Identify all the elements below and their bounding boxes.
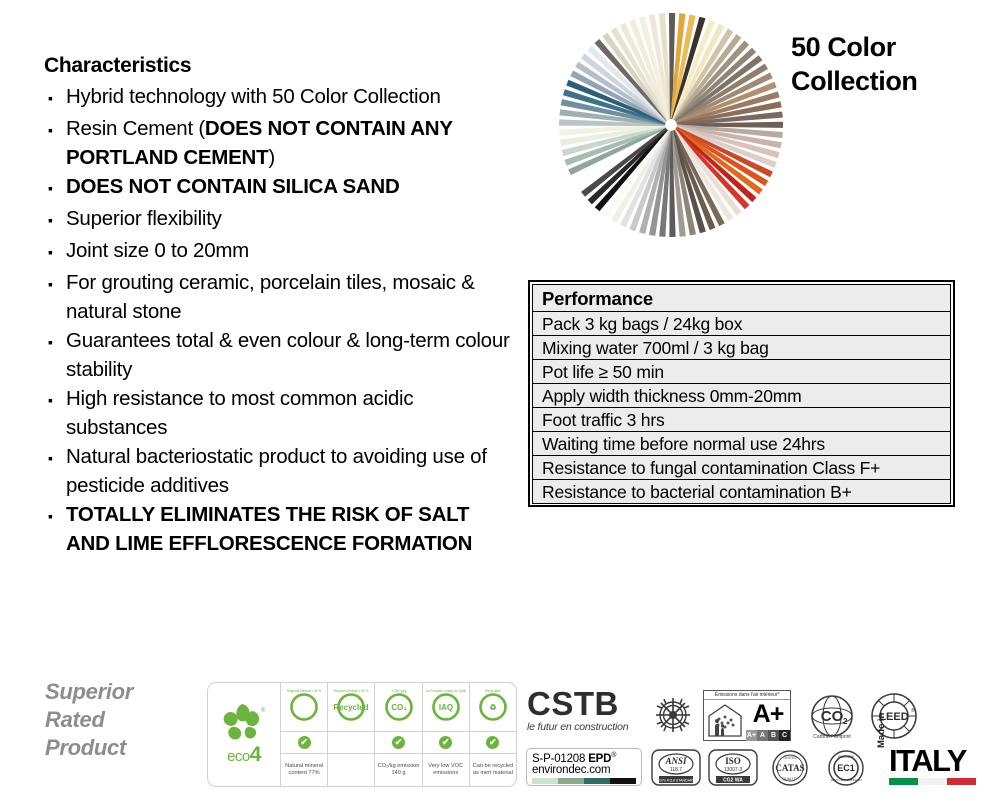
characteristic-text: Hybrid technology with 50 Color Collecti… bbox=[66, 83, 441, 112]
characteristic-item: ▪For grouting ceramic, porcelain tiles, … bbox=[44, 269, 514, 326]
epd-registered: ® bbox=[611, 752, 616, 759]
svg-text:Low Emission Indoor Air Qualit: Low Emission Indoor Air Quality bbox=[426, 689, 466, 693]
ec1-emicode-badge: EC1 EMICODE VERY LOW EMISSION bbox=[822, 748, 870, 788]
characteristic-text: Natural bacteriostatic product to avoidi… bbox=[66, 443, 514, 500]
superior-line-2: Rated bbox=[45, 706, 133, 734]
ansi-standard: 118.7 bbox=[670, 767, 682, 773]
voc-scale-step: A bbox=[757, 730, 768, 741]
performance-table-header: Performance bbox=[532, 284, 951, 312]
epd-bar-segment bbox=[610, 778, 636, 784]
voc-scale-step: C bbox=[779, 730, 790, 741]
voc-house-icon bbox=[704, 700, 746, 741]
eco4-certification-panel: ® eco4 Regional Mineral ≥ 80 %✔Natural m… bbox=[207, 682, 517, 787]
svg-text:Recyclable: Recyclable bbox=[485, 689, 501, 693]
epd-bar-segment bbox=[584, 778, 610, 784]
leed-registered: ® bbox=[911, 707, 915, 714]
eco4-column: IAQLow Emission Indoor Air Quality✔Very … bbox=[423, 683, 470, 786]
eco4-badge-icon: CO₂≤ 250 g/kg bbox=[375, 683, 421, 732]
cstb-tagline: le futur en construction bbox=[527, 721, 628, 733]
epd-gradient-bar bbox=[532, 778, 636, 784]
superior-line-1: Superior bbox=[45, 678, 133, 706]
check-icon: ✔ bbox=[392, 736, 405, 749]
performance-row: Resistance to fungal contamination Class… bbox=[532, 455, 951, 480]
characteristics-list: ▪Hybrid technology with 50 Color Collect… bbox=[44, 83, 514, 558]
characteristic-item: ▪Resin Cement (DOES NOT CONTAIN ANY PORT… bbox=[44, 115, 514, 172]
leed-icon: LEED ® bbox=[866, 688, 922, 744]
co2-arc-label: Carbon Footprint bbox=[813, 734, 851, 740]
bullet-square-icon: ▪ bbox=[44, 237, 66, 268]
check-icon: ✔ bbox=[486, 736, 499, 749]
eco4-badge-icon: ♻Recyclable bbox=[470, 683, 516, 732]
characteristic-item: ▪TOTALLY ELIMINATES THE RISK OF SALT AND… bbox=[44, 501, 514, 558]
eco4-caption: CO₂/kg emission 140 g bbox=[375, 754, 421, 786]
fan-title: 50 Color Collection bbox=[791, 30, 991, 98]
ansi-band-text: ANSI'S A118 STANDARDS bbox=[654, 779, 698, 783]
eco4-caption bbox=[328, 754, 374, 786]
epd-bar-segment bbox=[558, 778, 584, 784]
eco4-column: CO₂≤ 250 g/kg✔CO₂/kg emission 140 g bbox=[375, 683, 422, 786]
bullet-square-icon: ▪ bbox=[44, 115, 66, 146]
characteristic-item: ▪DOES NOT CONTAIN SILICA SAND bbox=[44, 173, 514, 204]
flag-stripe bbox=[889, 778, 918, 785]
characteristics-section: Characteristics ▪Hybrid technology with … bbox=[44, 54, 514, 559]
epd-environdec-badge: S-P-01208 EPD® environdec.com bbox=[526, 748, 642, 786]
eco4-badge-icon: Regional Mineral ≥ 80 % bbox=[281, 683, 327, 732]
svg-text:Regional Mineral ≥ 80 %: Regional Mineral ≥ 80 % bbox=[287, 689, 322, 693]
eco4-check-cell: ✔ bbox=[281, 732, 327, 754]
eco4-check-cell: ✔ bbox=[470, 732, 516, 754]
eco4-check-cell: ✔ bbox=[375, 732, 421, 754]
superior-line-3: Product bbox=[45, 734, 133, 762]
svg-text:≤ 250 g/kg: ≤ 250 g/kg bbox=[391, 689, 406, 693]
eco4-logo: ® eco4 bbox=[208, 683, 281, 786]
voc-grade: A+ bbox=[746, 700, 790, 730]
eco4-caption: Very low VOC emissions bbox=[423, 754, 469, 786]
characteristic-item: ▪Natural bacteriostatic product to avoid… bbox=[44, 443, 514, 500]
characteristic-item: ▪Guarantees total & even colour & long-t… bbox=[44, 327, 514, 384]
iso-band-text: CG2 WA bbox=[723, 778, 743, 784]
italy-wordmark: ITALY bbox=[889, 744, 966, 777]
bullet-square-icon: ▪ bbox=[44, 501, 66, 532]
characteristic-item: ▪High resistance to most common acidic s… bbox=[44, 385, 514, 442]
performance-row: Pack 3 kg bags / 24kg box bbox=[532, 311, 951, 336]
eco4-caption: Can be recycled as inert material bbox=[470, 754, 516, 786]
eco4-column: Regional Mineral ≥ 80 %✔Natural mineral … bbox=[281, 683, 328, 786]
cstb-logo: CSTB le futur en construction bbox=[527, 687, 628, 733]
eco4-wordmark: eco4 bbox=[227, 743, 261, 767]
svg-text:♻: ♻ bbox=[489, 703, 496, 712]
bullet-square-icon: ▪ bbox=[44, 327, 66, 358]
characteristic-item: ▪Joint size 0 to 20mm bbox=[44, 237, 514, 268]
made-in-italy-logo: Made in ITALY bbox=[876, 744, 976, 788]
characteristic-text: DOES NOT CONTAIN SILICA SAND bbox=[66, 173, 400, 202]
bullet-square-icon: ▪ bbox=[44, 385, 66, 416]
bullet-square-icon: ▪ bbox=[44, 269, 66, 300]
iso-standard: 13007-3 bbox=[724, 767, 743, 773]
characteristic-text: Joint size 0 to 20mm bbox=[66, 237, 249, 266]
eco4-columns: Regional Mineral ≥ 80 %✔Natural mineral … bbox=[281, 683, 516, 786]
bullet-square-icon: ▪ bbox=[44, 173, 66, 204]
svg-text:IAQ: IAQ bbox=[439, 703, 453, 712]
eco4-caption: Natural mineral content 77% bbox=[281, 754, 327, 786]
voc-scale-step: B bbox=[768, 730, 779, 741]
performance-table-body: Pack 3 kg bags / 24kg boxMixing water 70… bbox=[532, 311, 951, 504]
svg-text:Recycled Mineral ≥ 30 %: Recycled Mineral ≥ 30 % bbox=[334, 689, 369, 693]
ansi-badge: ANSI 118.7 ANSI'S A118 STANDARDS bbox=[651, 749, 701, 786]
check-icon: ✔ bbox=[298, 736, 311, 749]
iso-text: ISO bbox=[725, 756, 741, 766]
catas-arc-bottom: QUALITY bbox=[782, 777, 798, 781]
epd-website: environdec.com bbox=[532, 764, 636, 776]
performance-row: Apply width thickness 0mm-20mm bbox=[532, 383, 951, 408]
flag-stripe bbox=[918, 778, 947, 785]
italian-flag-icon bbox=[889, 778, 976, 785]
svg-text:Recycled: Recycled bbox=[334, 703, 369, 712]
ec1-text: EC1 bbox=[837, 763, 855, 773]
epd-bar-segment bbox=[532, 778, 558, 784]
made-in-label: Made in bbox=[876, 713, 887, 748]
bullet-square-icon: ▪ bbox=[44, 83, 66, 114]
eco4-check-cell: ✔ bbox=[423, 732, 469, 754]
co2-text: CO bbox=[821, 708, 844, 725]
eco4-badge-icon: IAQLow Emission Indoor Air Quality bbox=[423, 683, 469, 732]
characteristics-title: Characteristics bbox=[44, 54, 514, 78]
characteristic-item: ▪Hybrid technology with 50 Color Collect… bbox=[44, 83, 514, 114]
catas-badge: CATAS TESTED QUALITY bbox=[766, 748, 814, 788]
catas-arc-top: TESTED bbox=[783, 756, 798, 760]
eco4-column: RecycledRecycled Mineral ≥ 30 % bbox=[328, 683, 375, 786]
voc-grade-scale: A+ABC bbox=[746, 730, 790, 741]
eco4-column: ♻Recyclable✔Can be recycled as inert mat… bbox=[470, 683, 516, 786]
ansi-text: ANSI bbox=[664, 756, 687, 766]
characteristic-text: Superior flexibility bbox=[66, 205, 222, 234]
bullet-square-icon: ▪ bbox=[44, 205, 66, 236]
color-fan-svg bbox=[548, 8, 788, 240]
eco4-check-cell bbox=[328, 732, 374, 754]
characteristic-text: High resistance to most common acidic su… bbox=[66, 385, 514, 442]
check-icon: ✔ bbox=[439, 736, 452, 749]
characteristic-text: TOTALLY ELIMINATES THE RISK OF SALT AND … bbox=[66, 501, 514, 558]
iso-badge: ISO 13007-3 CG2 WA bbox=[708, 749, 758, 786]
eco4-leaf-icon: ® bbox=[220, 702, 268, 742]
characteristic-text: Resin Cement (DOES NOT CONTAIN ANY PORTL… bbox=[66, 115, 514, 172]
voc-emission-title: Émissions dans l'air intérieur* bbox=[704, 691, 790, 700]
ec1-arc-top: EMICODE bbox=[838, 755, 855, 759]
ships-wheel-icon bbox=[647, 689, 699, 741]
color-fan-image bbox=[548, 8, 788, 240]
characteristic-item: ▪Superior flexibility bbox=[44, 205, 514, 236]
cstb-wordmark: CSTB bbox=[527, 687, 628, 720]
co2-subscript: 2 bbox=[843, 717, 848, 726]
eco4-badge-icon: RecycledRecycled Mineral ≥ 30 % bbox=[328, 683, 374, 732]
bullet-square-icon: ▪ bbox=[44, 443, 66, 474]
flag-stripe bbox=[947, 778, 976, 785]
characteristic-text: Guarantees total & even colour & long-te… bbox=[66, 327, 514, 384]
performance-row: Mixing water 700ml / 3 kg bag bbox=[532, 335, 951, 360]
performance-table: Performance Pack 3 kg bags / 24kg boxMix… bbox=[528, 280, 955, 507]
performance-row: Resistance to bacterial contamination B+ bbox=[532, 479, 951, 504]
catas-text: CATAS bbox=[775, 763, 804, 773]
voc-emission-label: Émissions dans l'air intérieur* A+ A+ABC bbox=[703, 690, 791, 741]
performance-row: Pot life ≥ 50 min bbox=[532, 359, 951, 384]
svg-text:CO₂: CO₂ bbox=[391, 703, 407, 712]
voc-scale-step: A+ bbox=[746, 730, 757, 741]
eco4-registered-mark: ® bbox=[261, 707, 266, 714]
ec1-arc-bottom: VERY LOW EMISSION bbox=[830, 778, 861, 782]
performance-row: Waiting time before normal use 24hrs bbox=[532, 431, 951, 456]
characteristic-text: For grouting ceramic, porcelain tiles, m… bbox=[66, 269, 514, 326]
superior-rated-product-label: Superior Rated Product bbox=[45, 678, 133, 762]
carbon-footprint-icon: CO 2 Carbon Footprint bbox=[805, 688, 860, 743]
performance-row: Foot traffic 3 hrs bbox=[532, 407, 951, 432]
